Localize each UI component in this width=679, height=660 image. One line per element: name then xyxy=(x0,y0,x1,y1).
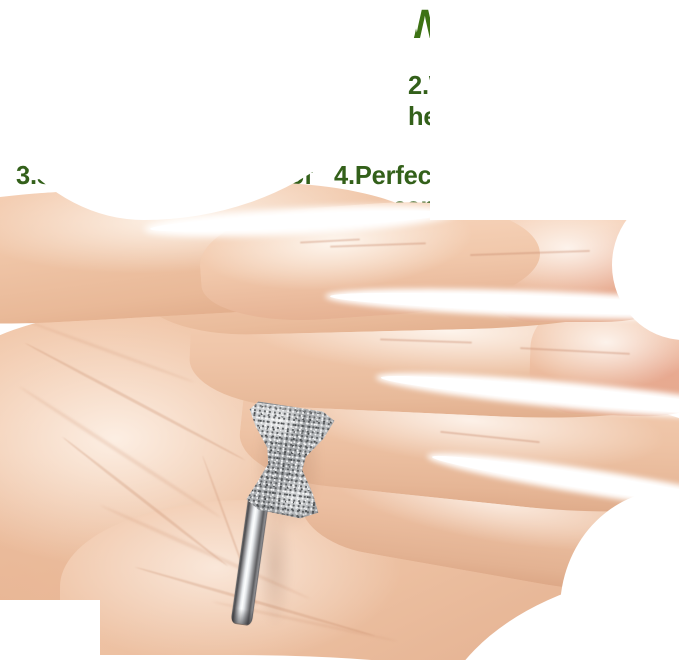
shank-tip-shadow xyxy=(231,607,254,626)
background-mask xyxy=(430,0,679,220)
product-image: 1/8" Pet Nail Grinder Wheel 1.Fit Dremel… xyxy=(0,0,679,660)
background-mask xyxy=(0,600,100,660)
grinder-wheel-tool xyxy=(222,405,352,630)
